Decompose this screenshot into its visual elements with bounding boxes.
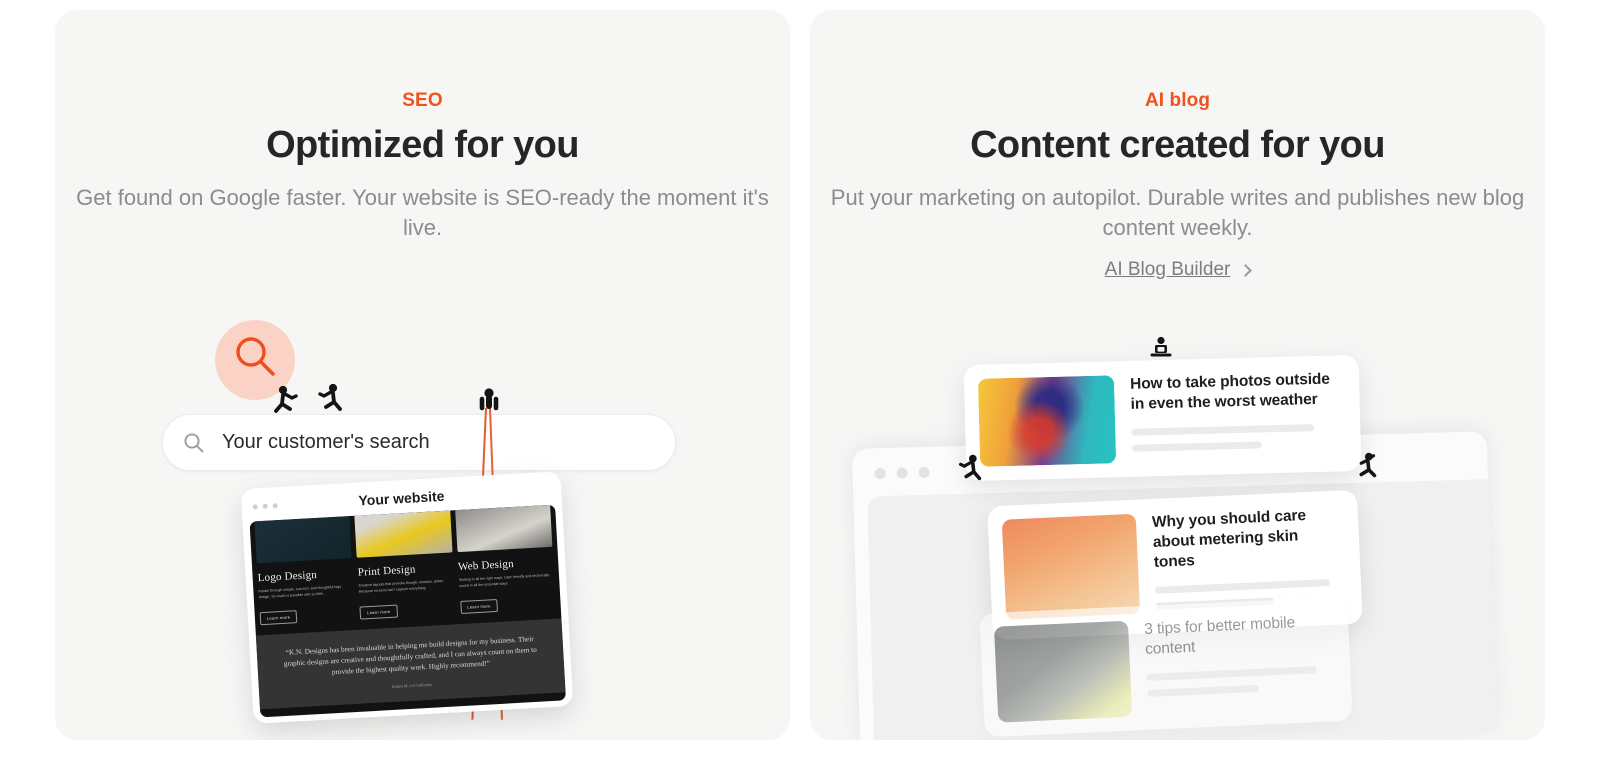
ai-blog-builder-link[interactable]: AI Blog Builder bbox=[810, 259, 1545, 281]
blog-post-thumbnail bbox=[1002, 514, 1140, 620]
blog-post-placeholder-lines bbox=[1146, 665, 1337, 697]
runner-figure-left-icon bbox=[270, 384, 304, 418]
mock-column-image bbox=[455, 505, 553, 552]
blog-post-card[interactable]: How to take photos outside in even the w… bbox=[964, 355, 1362, 481]
blog-post-thumbnail bbox=[994, 621, 1132, 723]
mock-learn-more-button[interactable]: Learn more bbox=[260, 610, 298, 625]
mock-column-heading: Logo Design bbox=[257, 567, 353, 584]
mock-column-image bbox=[255, 516, 353, 563]
card-headline-seo: Optimized for you bbox=[55, 124, 790, 167]
search-icon bbox=[183, 432, 205, 454]
website-mockup: Your website Logo Design Impact through … bbox=[241, 471, 574, 723]
seo-illustration: Your customer's search Your website bbox=[55, 10, 790, 740]
mock-column-heading: Web Design bbox=[458, 556, 554, 573]
chevron-right-icon bbox=[1239, 264, 1252, 277]
feature-cards-row: SEO Optimized for you Get found on Googl… bbox=[0, 0, 1600, 776]
blog-post-placeholder-lines bbox=[1131, 423, 1337, 451]
blog-post-title: 3 tips for better mobile content bbox=[1144, 611, 1336, 660]
card-eyebrow-ai-blog: AI blog bbox=[810, 10, 1545, 112]
ai-blog-builder-label: AI Blog Builder bbox=[1105, 259, 1231, 281]
mock-page-body: Logo Design Impact through simple, succi… bbox=[250, 505, 566, 718]
blog-post-title: How to take photos outside in even the w… bbox=[1130, 369, 1336, 414]
mock-column: Web Design Striking in all the right way… bbox=[455, 505, 556, 620]
runner-figure-browser-left-icon bbox=[954, 453, 986, 485]
mock-column: Print Design Creative layouts that provo… bbox=[355, 510, 456, 625]
search-input-text: Your customer's search bbox=[222, 431, 430, 454]
mock-column-heading: Print Design bbox=[358, 561, 454, 578]
card-subhead-ai-blog: Put your marketing on autopilot. Durable… bbox=[810, 183, 1545, 243]
seo-feature-card: SEO Optimized for you Get found on Googl… bbox=[55, 10, 790, 740]
blog-post-content: How to take photos outside in even the w… bbox=[1130, 369, 1337, 460]
card-subhead-seo: Get found on Google faster. Your website… bbox=[55, 183, 790, 243]
mock-column-body: Impact through simple, succinct, and tho… bbox=[258, 583, 354, 600]
runner-figure-right-icon bbox=[313, 382, 347, 416]
magnifier-accent-icon bbox=[231, 333, 279, 381]
mock-column-image bbox=[355, 510, 453, 557]
mock-columns: Logo Design Impact through simple, succi… bbox=[250, 505, 562, 632]
mock-column-body: Creative layouts that provoke though, em… bbox=[358, 577, 454, 594]
climber-figure-icon bbox=[471, 386, 507, 418]
blog-post-card[interactable]: 3 tips for better mobile content bbox=[979, 597, 1352, 738]
blog-post-title: Why you should care about metering skin … bbox=[1152, 505, 1335, 573]
mock-testimonial: “K.N. Designs has been invaluable in hel… bbox=[256, 618, 566, 709]
ai-blog-illustration: How to take photos outside in even the w… bbox=[810, 10, 1545, 740]
mock-learn-more-button[interactable]: Learn more bbox=[460, 599, 498, 614]
search-input[interactable]: Your customer's search bbox=[162, 414, 676, 471]
runner-figure-browser-right-icon bbox=[1350, 451, 1382, 483]
ai-blog-feature-card: AI blog Content created for you Put your… bbox=[810, 10, 1545, 740]
card-headline-ai-blog: Content created for you bbox=[810, 124, 1545, 167]
card-eyebrow-seo: SEO bbox=[55, 10, 790, 112]
blog-post-content: 3 tips for better mobile content bbox=[1144, 611, 1338, 706]
window-dots bbox=[874, 467, 929, 480]
mock-column-body: Striking in all the right ways. User fri… bbox=[459, 572, 555, 589]
mock-column: Logo Design Impact through simple, succi… bbox=[255, 516, 356, 631]
mock-learn-more-button[interactable]: Learn more bbox=[360, 605, 398, 620]
blog-post-thumbnail bbox=[978, 375, 1116, 467]
